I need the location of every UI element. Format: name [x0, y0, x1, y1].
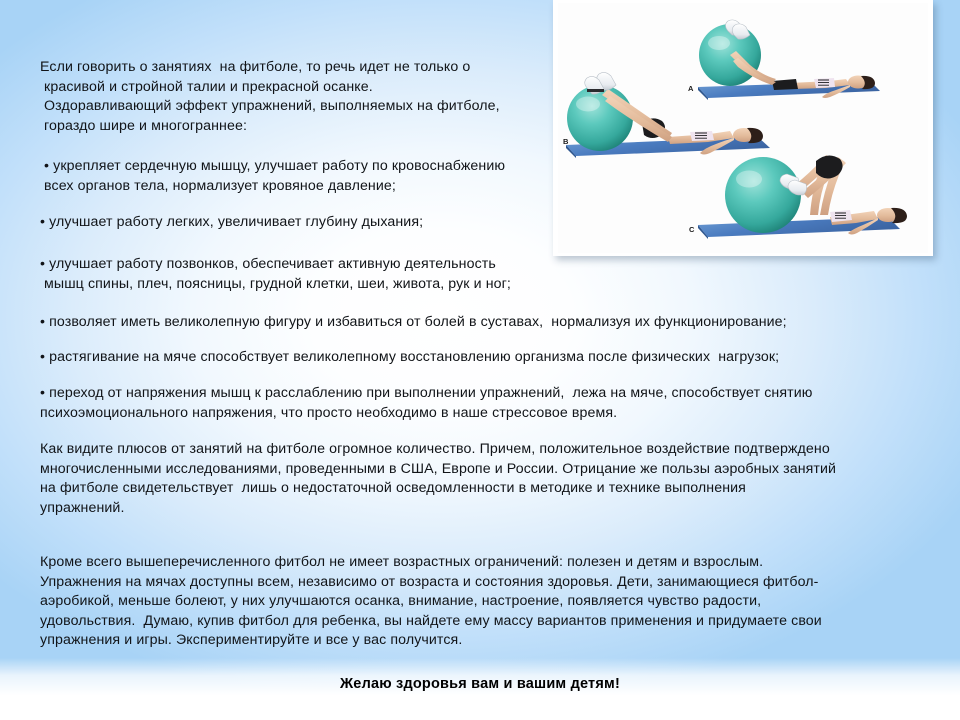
body-paragraph-2: Кроме всего вышеперечисленного фитбол не…	[40, 553, 935, 651]
panel-label-c: C	[689, 225, 695, 234]
closing-wish: Желаю здоровья вам и вашим детям!	[0, 676, 960, 692]
panel-label-a: A	[688, 84, 694, 93]
exercise-illustration: A	[558, 3, 928, 253]
panel-label-b: B	[563, 137, 569, 146]
exercise-photo: A	[558, 3, 928, 253]
exercise-photo-frame: A	[553, 0, 933, 256]
bullet-item-4: • позволяет иметь великолепную фигуру и …	[40, 313, 940, 333]
bullet-item-1: • укрепляет сердечную мышцу, улучшает ра…	[40, 157, 585, 196]
bullet-item-2: • улучшает работу легких, увеличивает гл…	[40, 213, 585, 233]
bullet-item-6: • переход от напряжения мышц к расслабле…	[40, 384, 935, 423]
body-paragraph-1: Как видите плюсов от занятий на фитболе …	[40, 440, 930, 518]
slide-canvas: A	[0, 0, 960, 720]
intro-paragraph: Если говорить о занятиях на фитболе, то …	[40, 58, 560, 136]
bullet-item-3: • улучшает работу позвонков, обеспечивае…	[40, 255, 600, 294]
bullet-item-5: • растягивание на мяче способствует вели…	[40, 348, 940, 368]
